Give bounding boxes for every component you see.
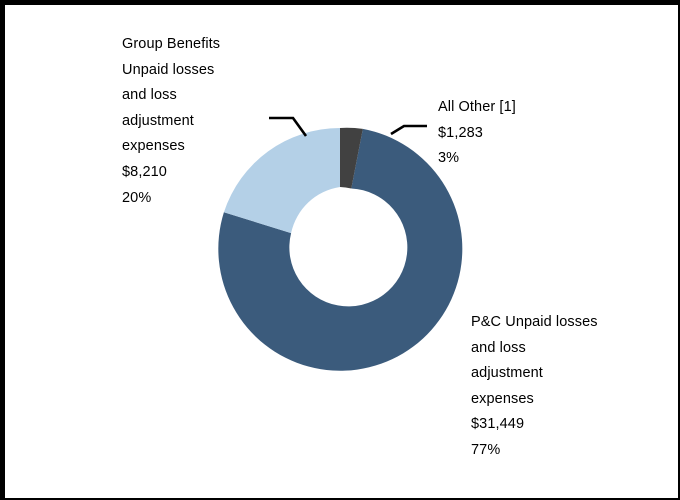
donut-chart-figure: Group Benefits Unpaid losses and loss ad… <box>0 0 680 500</box>
slice-label-group-benefits: Group Benefits Unpaid losses and loss ad… <box>122 32 292 211</box>
plot-area: Group Benefits Unpaid losses and loss ad… <box>0 0 680 500</box>
slice-label-p-and-c: P&C Unpaid losses and loss adjustment ex… <box>471 310 661 464</box>
slice-label-all-other: All Other [1] $1,283 3% <box>438 95 608 172</box>
